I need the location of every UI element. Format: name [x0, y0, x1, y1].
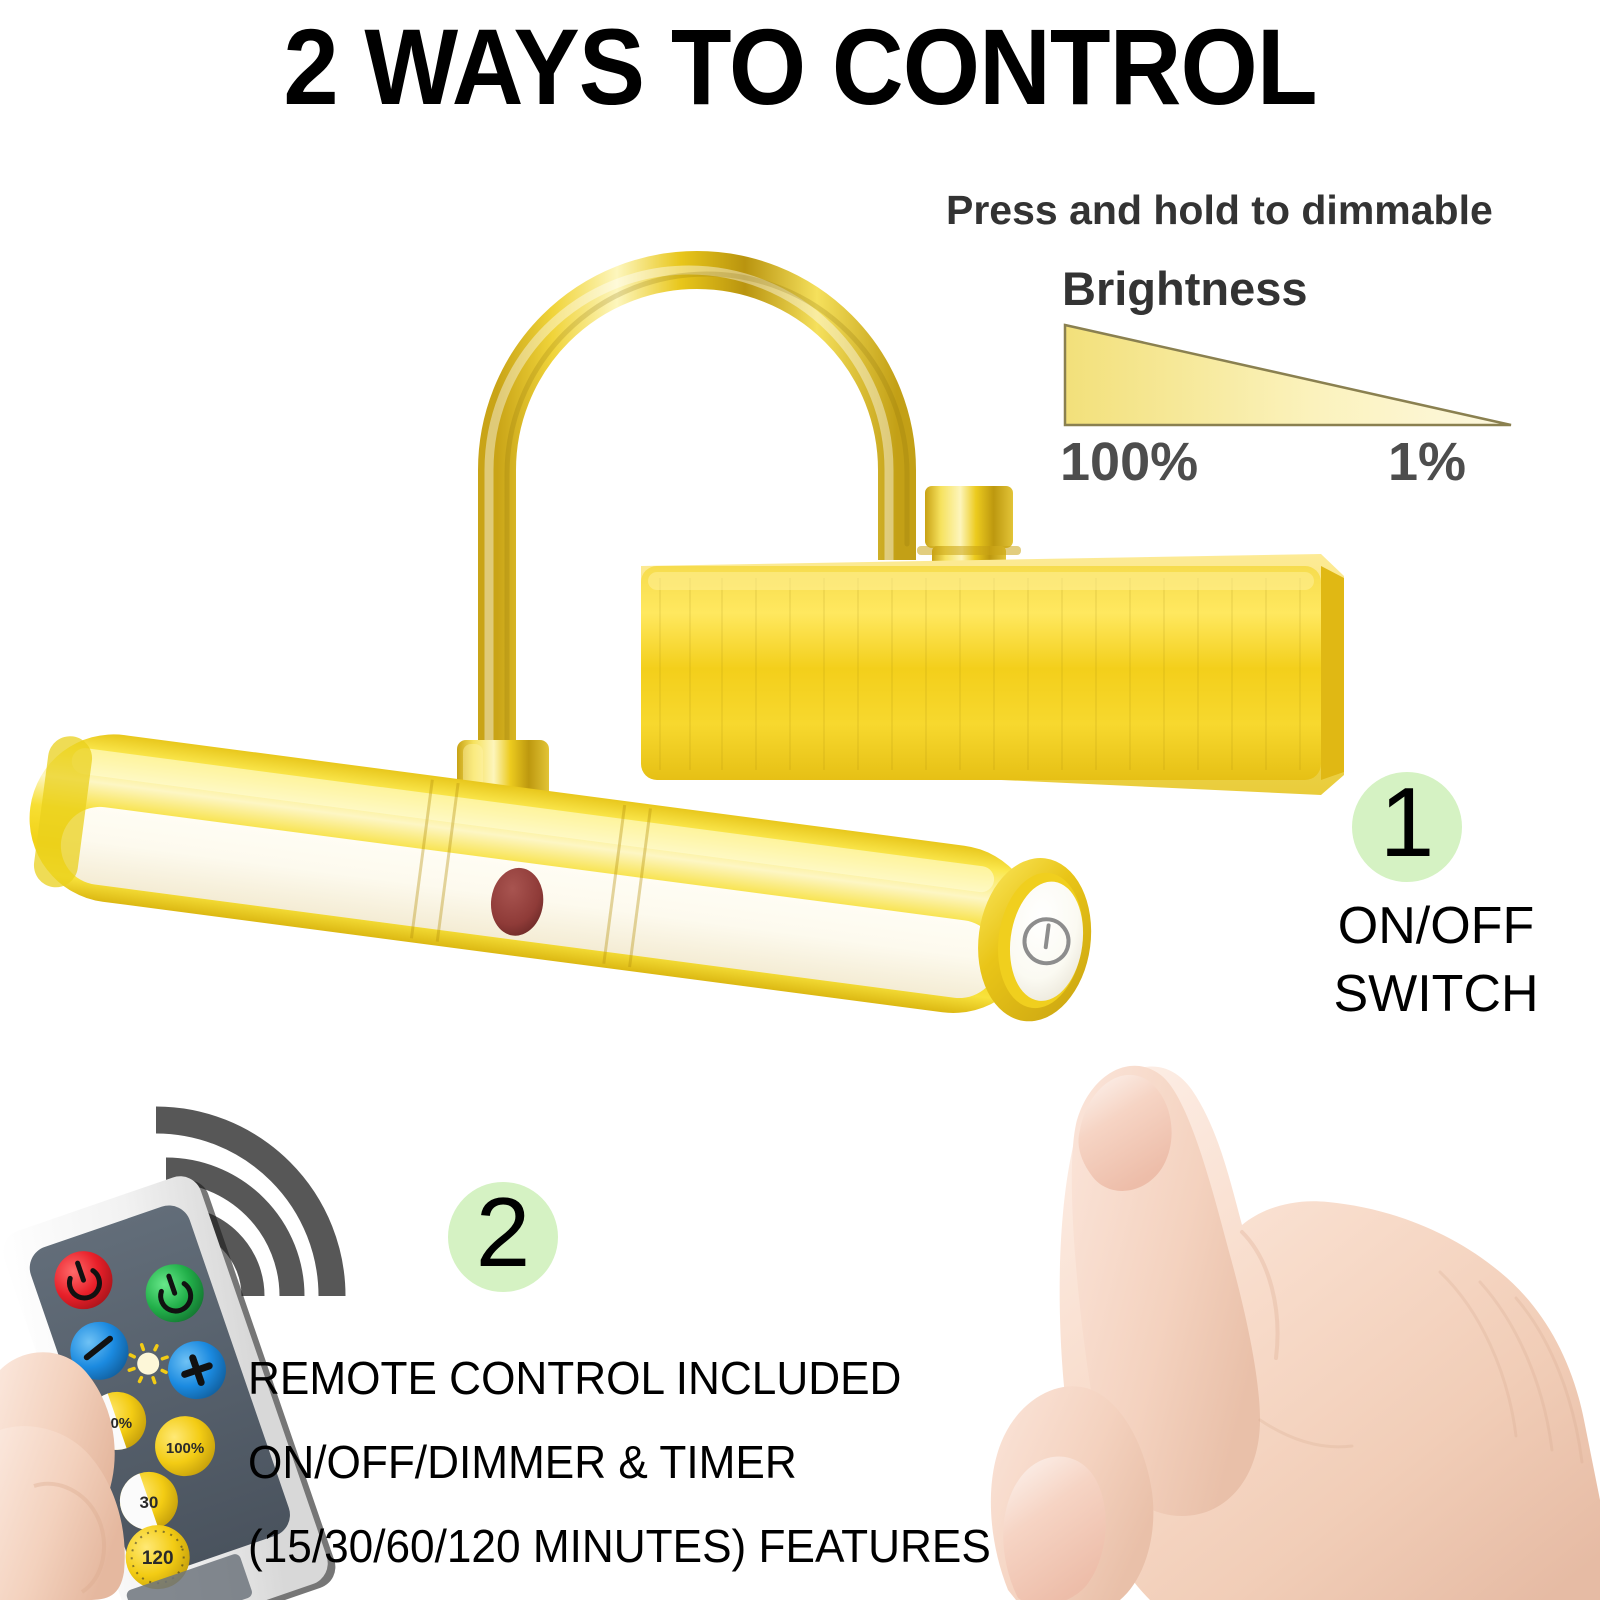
- svg-text:30: 30: [139, 1493, 158, 1512]
- mounting-plate: [641, 554, 1344, 795]
- svg-text:120: 120: [142, 1548, 174, 1569]
- brightness-min-value: 1%: [1388, 432, 1466, 492]
- infographic-canvas: 2 WAYS TO CONTROL: [0, 0, 1600, 1600]
- upper-collar: [917, 486, 1021, 568]
- step-1-caption: ON/OFF SWITCH: [1296, 892, 1576, 1028]
- brightness-gradient-triangle: [1062, 322, 1514, 432]
- step-2-caption: REMOTE CONTROL INCLUDED ON/OFF/DIMMER & …: [248, 1336, 1112, 1588]
- step-2-number: 2: [476, 1176, 531, 1289]
- step-2-caption-line2: ON/OFF/DIMMER & TIMER: [248, 1420, 1112, 1504]
- step-2-badge: 2: [448, 1182, 558, 1292]
- step-1-number: 1: [1380, 766, 1435, 879]
- brightness-label: Brightness: [1062, 262, 1308, 316]
- dimmable-hint: Press and hold to dimmable: [946, 186, 1586, 234]
- step-1-caption-line2: SWITCH: [1296, 960, 1576, 1028]
- step-2-caption-line1: REMOTE CONTROL INCLUDED: [248, 1336, 1112, 1420]
- step-2-caption-line3: (15/30/60/120 MINUTES) FEATURES: [248, 1504, 1112, 1588]
- svg-text:100%: 100%: [166, 1440, 204, 1457]
- brightness-max-value: 100%: [1060, 432, 1198, 492]
- step-1-caption-line1: ON/OFF: [1296, 892, 1576, 960]
- step-1-badge: 1: [1352, 772, 1462, 882]
